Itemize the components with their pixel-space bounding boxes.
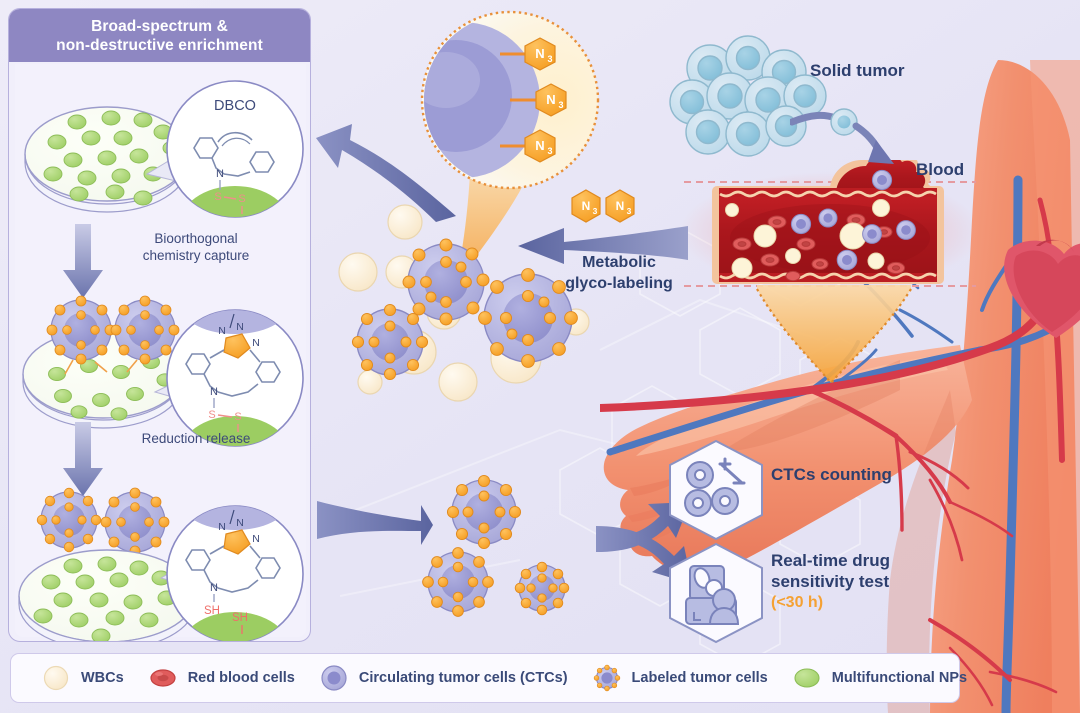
- sampling-funnel: [735, 285, 945, 390]
- purified-labeled-cells: [420, 470, 600, 630]
- svg-text:N: N: [216, 168, 224, 180]
- release-arrow: [315, 495, 435, 555]
- legend-label-rbcs: Red blood cells: [188, 670, 295, 686]
- svg-text:N: N: [535, 138, 544, 153]
- svg-text:S: S: [208, 409, 215, 421]
- legend-item-labeled-tumor-cells: Labeled tumor cells: [592, 663, 768, 693]
- step-label-bioorthogonal: Bioorthogonal chemistry capture: [101, 230, 291, 264]
- svg-text:N: N: [546, 92, 555, 107]
- triazole-callout-2: N N N N SH SH: [164, 496, 306, 642]
- figure-canvas: N 3 N 3 N 3 N 3 N 3: [0, 0, 1080, 713]
- wbc-icon: [41, 663, 71, 693]
- svg-text:N: N: [252, 337, 260, 349]
- ctc-icon: [319, 663, 349, 693]
- svg-text:S: S: [238, 193, 245, 205]
- ctcs-counting-icon[interactable]: [662, 437, 770, 543]
- svg-text:S: S: [234, 411, 241, 423]
- svg-text:N: N: [236, 321, 244, 333]
- panel-title-line1: Broad-spectrum &: [56, 17, 263, 36]
- svg-text:3: 3: [547, 54, 552, 64]
- tumor-escape-arrow: [790, 80, 910, 170]
- labeled-tumor-cell: [403, 239, 489, 325]
- panel-title-line2: non-destructive enrichment: [56, 36, 263, 55]
- blood-sample-cells: [330, 200, 630, 430]
- legend-item-wbcs: WBCs: [41, 663, 124, 693]
- legend-label-nps: Multifunctional NPs: [832, 670, 967, 686]
- legend-label-ctcs: Circulating tumor cells (CTCs): [359, 670, 568, 686]
- drug-sensitivity-label: Real-time drug sensitivity test (<30 h): [771, 550, 890, 613]
- rbc-icon: [148, 663, 178, 693]
- svg-text:N: N: [236, 517, 244, 529]
- svg-text:N: N: [218, 521, 226, 533]
- dbco-label: DBCO: [214, 98, 256, 114]
- svg-text:SH: SH: [232, 612, 248, 624]
- ctcs-counting-label: CTCs counting: [771, 465, 892, 485]
- legend-item-ctcs: Circulating tumor cells (CTCs): [319, 663, 568, 693]
- labeled-tumor-icon: [592, 663, 622, 693]
- dbco-callout: DBCO N S S: [164, 78, 306, 220]
- drug-test-duration: (<30 h): [771, 592, 890, 613]
- legend-item-nps: Multifunctional NPs: [792, 663, 967, 693]
- svg-text:N: N: [218, 325, 226, 337]
- svg-text:N: N: [210, 386, 218, 398]
- blood-label: Blood: [916, 160, 964, 180]
- legend-label-wbcs: WBCs: [81, 670, 124, 686]
- np-icon: [792, 663, 822, 693]
- legend-label-labeled-tumor-cells: Labeled tumor cells: [632, 670, 768, 686]
- svg-text:N: N: [210, 582, 218, 594]
- metabolic-glyco-labeling-label: Metabolic glyco-labeling: [549, 252, 689, 294]
- svg-text:3: 3: [547, 146, 552, 156]
- svg-text:N: N: [535, 46, 544, 61]
- solid-tumor-label: Solid tumor: [810, 61, 904, 81]
- svg-text:3: 3: [558, 100, 563, 110]
- legend-item-rbcs: Red blood cells: [148, 663, 295, 693]
- left-panel-title: Broad-spectrum & non-destructive enrichm…: [9, 9, 310, 62]
- drug-test-icon[interactable]: [662, 540, 770, 646]
- legend: WBCs Red blood cells Circulating tumor c…: [10, 653, 960, 703]
- svg-text:S: S: [214, 191, 221, 203]
- svg-text:SH: SH: [204, 605, 220, 617]
- left-panel-body: DBCO N S S: [15, 64, 306, 637]
- svg-text:N: N: [252, 533, 260, 545]
- triazole-callout-1: N N N N S S: [164, 300, 306, 450]
- step-label-reduction: Reduction release: [101, 430, 291, 447]
- left-panel: Broad-spectrum & non-destructive enrichm…: [8, 8, 311, 642]
